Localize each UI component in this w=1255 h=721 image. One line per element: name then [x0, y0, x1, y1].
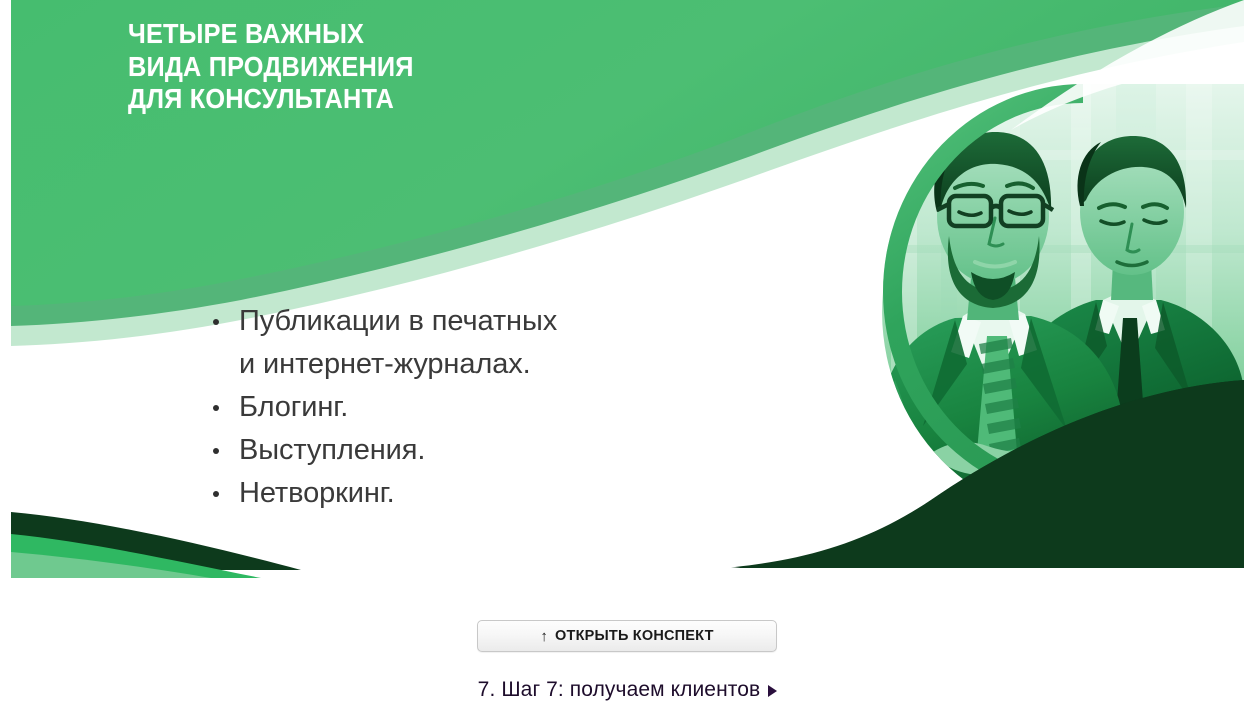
up-arrow-icon: ↑	[540, 629, 548, 644]
presentation-slide: ЧЕТЫРЕ ВАЖНЫХ ВИДА ПРОДВИЖЕНИЯ ДЛЯ КОНСУ…	[11, 0, 1244, 589]
play-triangle-icon	[768, 685, 777, 697]
next-step-label: 7. Шаг 7: получаем клиентов	[478, 678, 761, 702]
page-root: ЧЕТЫРЕ ВАЖНЫХ ВИДА ПРОДВИЖЕНИЯ ДЛЯ КОНСУ…	[0, 0, 1255, 721]
list-item: Блогинг.	[204, 386, 674, 429]
list-item: Нетворкинг.	[204, 472, 674, 515]
open-notes-label: ОТКРЫТЬ КОНСПЕКТ	[555, 628, 714, 644]
open-notes-button[interactable]: ↑ ОТКРЫТЬ КОНСПЕКТ	[477, 620, 777, 652]
list-item: Выступления.	[204, 429, 674, 472]
slide-bullet-list: Публикации в печатных и интернет-журнала…	[204, 300, 674, 515]
slide-title: ЧЕТЫРЕ ВАЖНЫХ ВИДА ПРОДВИЖЕНИЯ ДЛЯ КОНСУ…	[128, 18, 643, 116]
list-item: Публикации в печатных и интернет-журнала…	[204, 300, 674, 386]
next-step-link[interactable]: 7. Шаг 7: получаем клиентов	[0, 678, 1255, 702]
